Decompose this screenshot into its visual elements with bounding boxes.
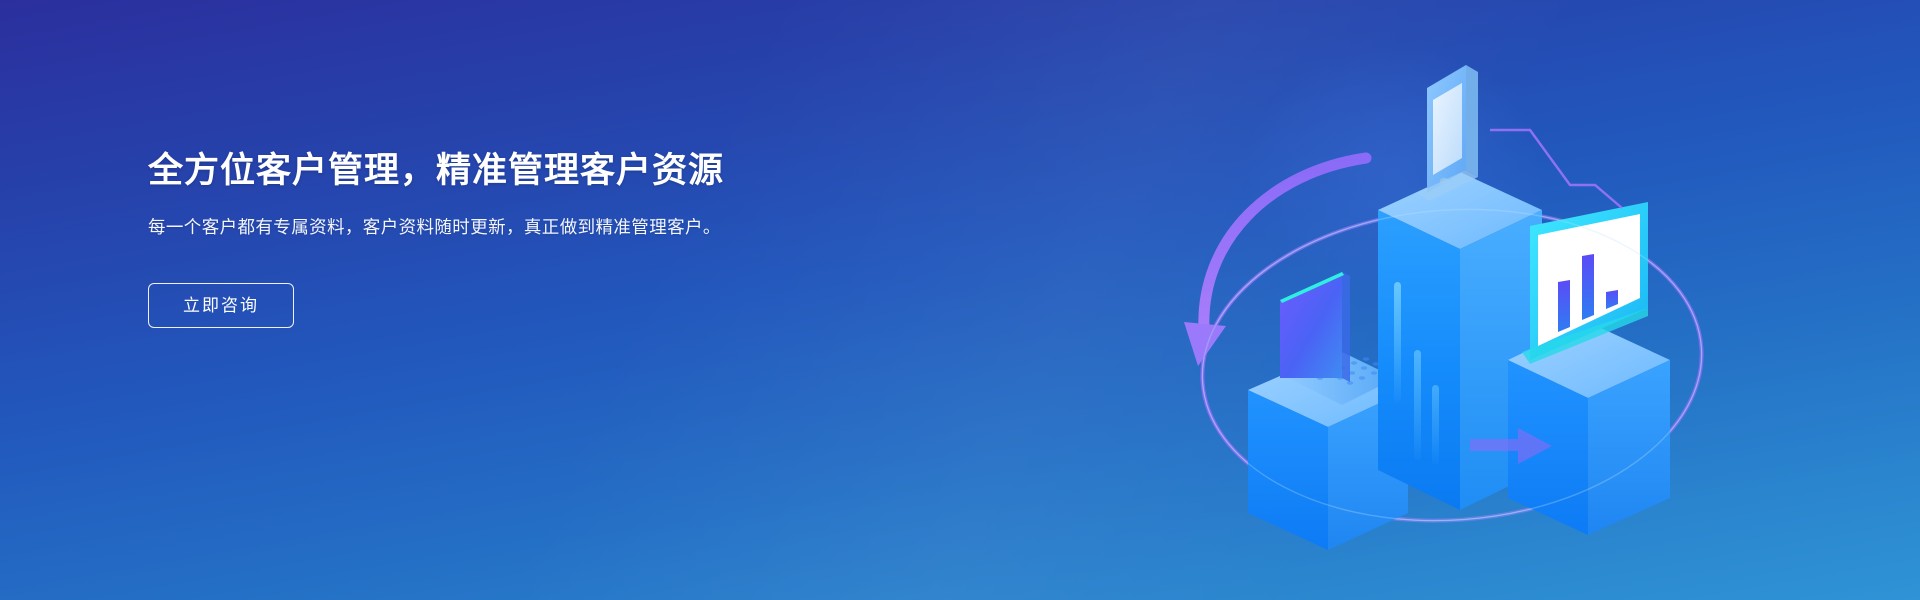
hero-subcopy: 每一个客户都有专属资料，客户资料随时更新，真正做到精准管理客户。 xyxy=(148,214,748,241)
chart-bar-1 xyxy=(1558,280,1570,332)
page-title: 全方位客户管理，精准管理客户资源 xyxy=(148,150,788,192)
illustration-svg xyxy=(1170,30,1730,590)
hero-banner: 全方位客户管理，精准管理客户资源 每一个客户都有专属资料，客户资料随时更新，真正… xyxy=(0,0,1920,600)
hero-copy: 全方位客户管理，精准管理客户资源 每一个客户都有专属资料，客户资料随时更新，真正… xyxy=(148,150,788,328)
consult-now-button[interactable]: 立即咨询 xyxy=(148,283,294,328)
monitor-device xyxy=(1522,202,1648,364)
hero-illustration xyxy=(1170,30,1730,590)
chart-bar-2 xyxy=(1582,254,1594,320)
